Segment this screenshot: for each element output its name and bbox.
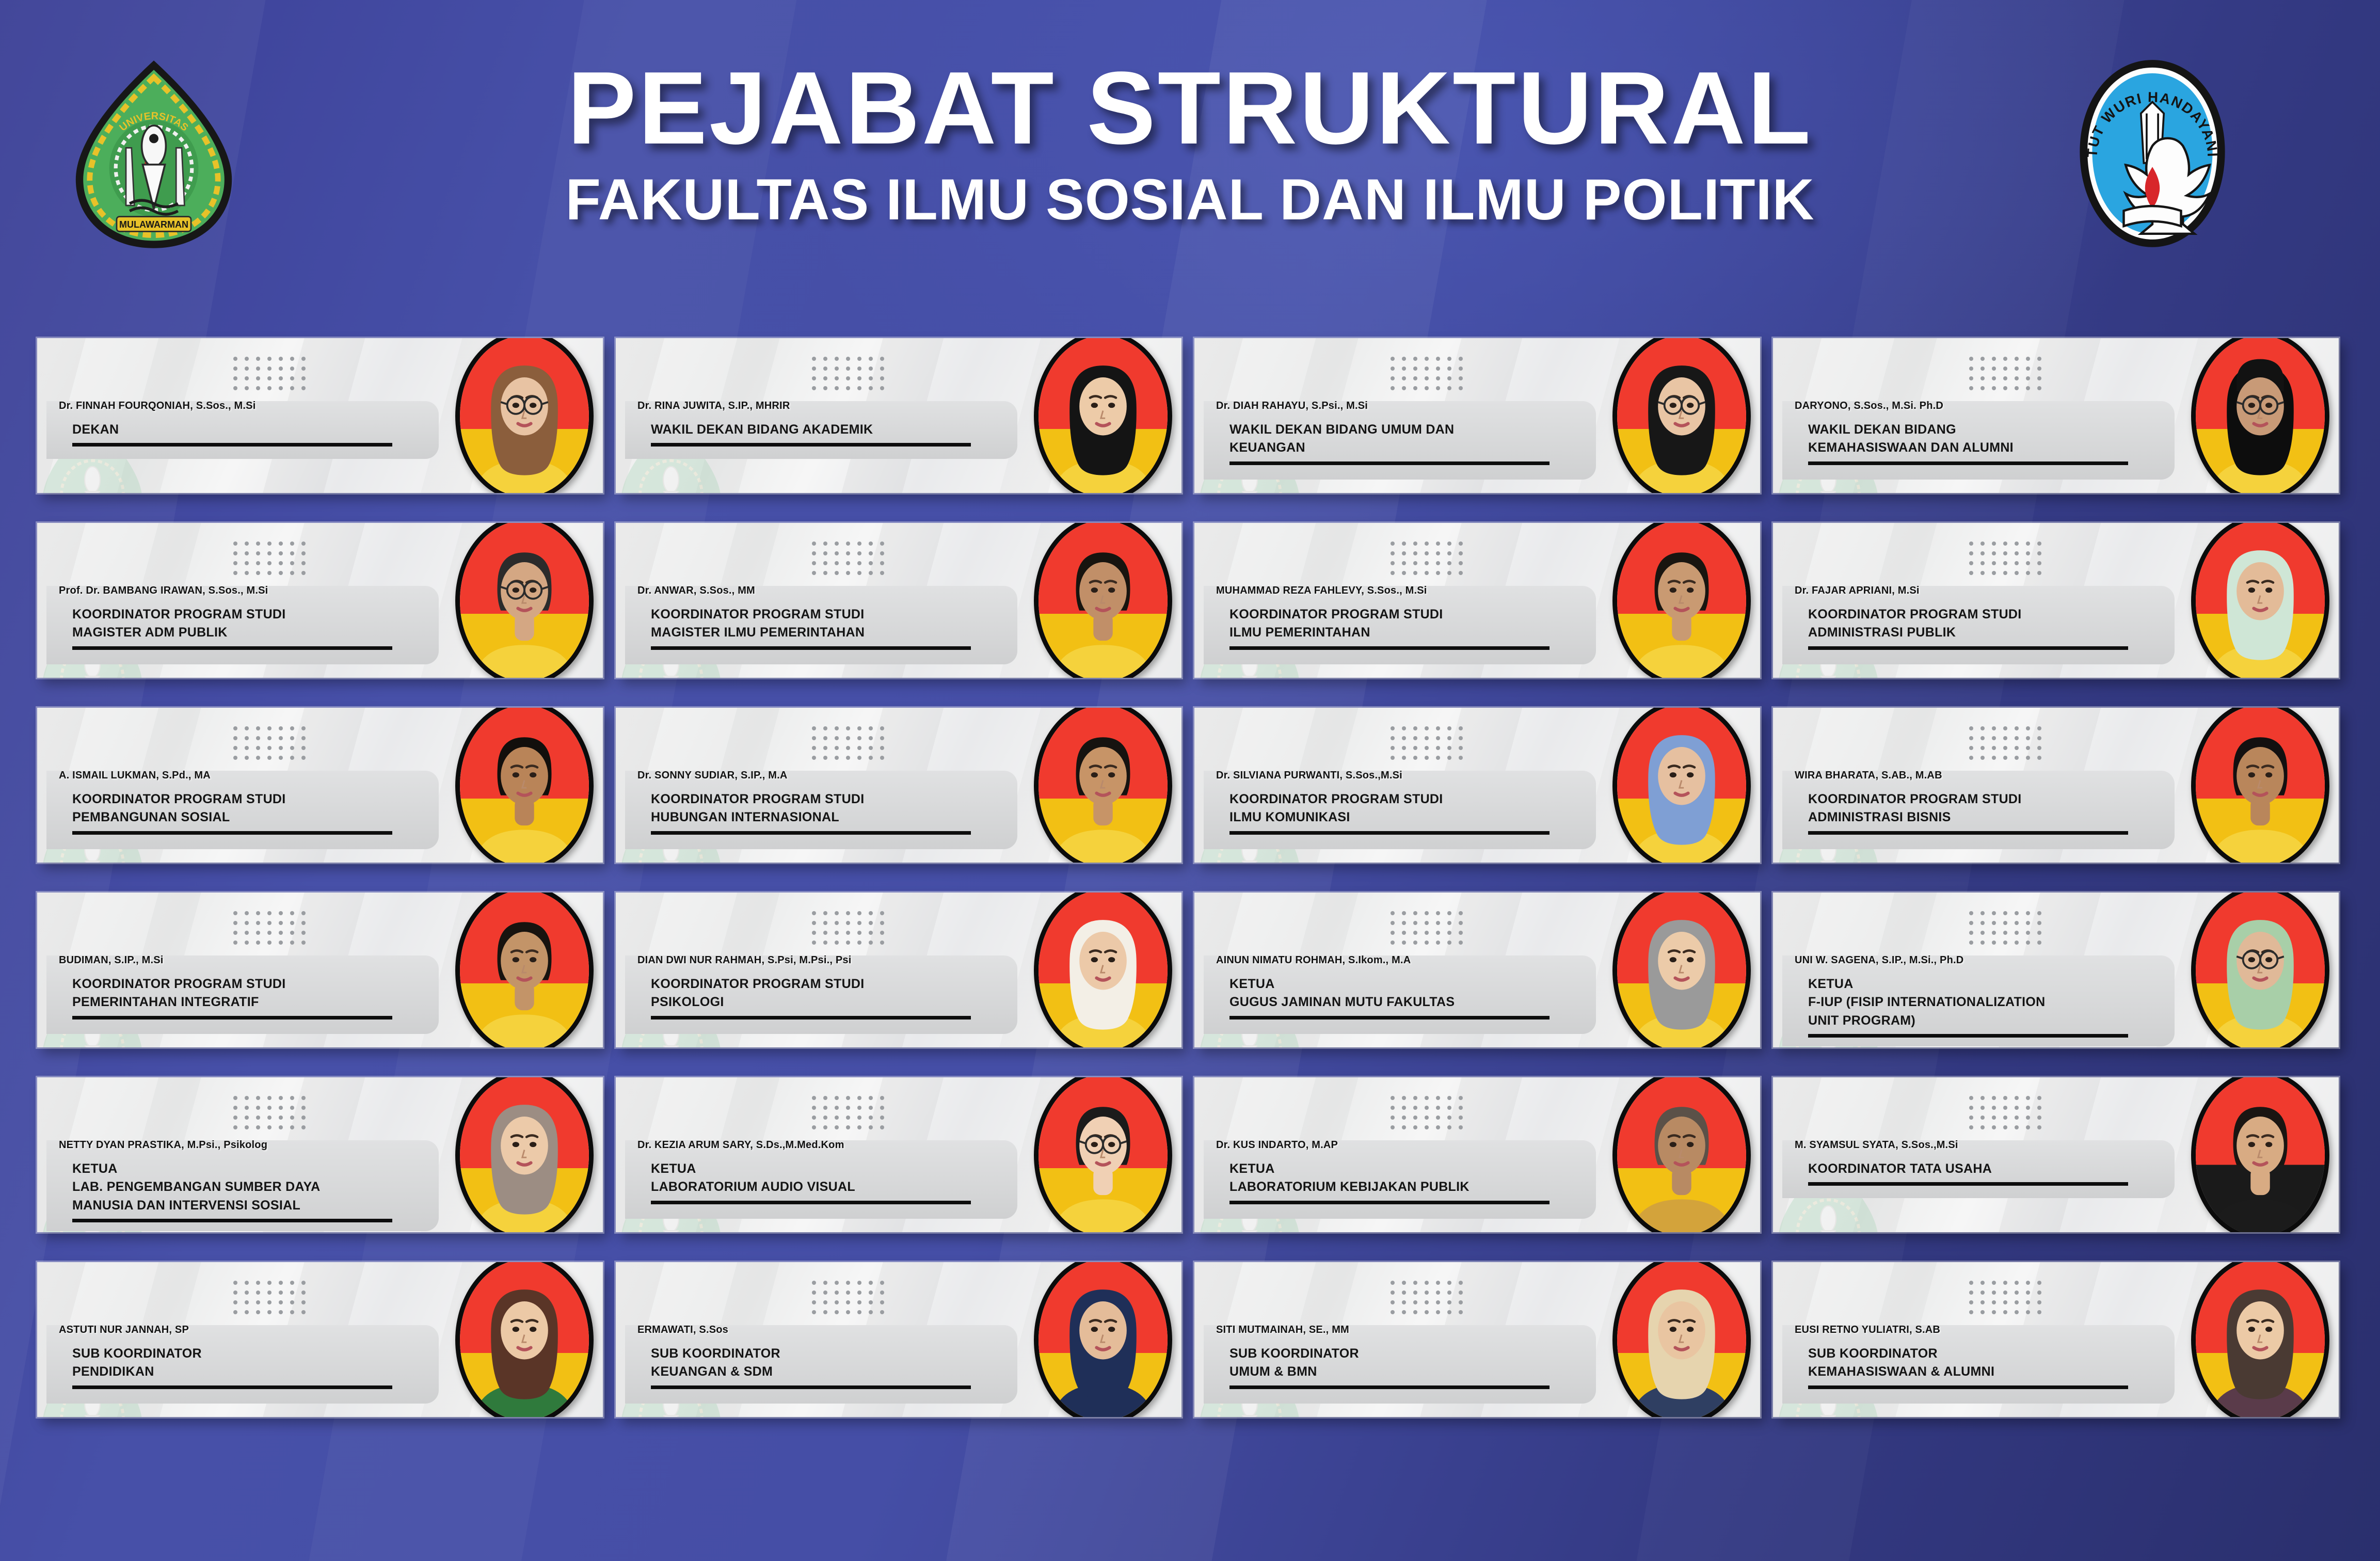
dot-pattern-decoration bbox=[812, 541, 891, 581]
official-text-block: NETTY DYAN PRASTIKA, M.Psi., PsikologKET… bbox=[59, 1139, 467, 1222]
official-card[interactable]: SITI MUTMAINAH, SE., MMSUB KOORDINATORUM… bbox=[1194, 1262, 1760, 1417]
official-role: KOORDINATOR PROGRAM STUDIILMU PEMERINTAH… bbox=[1216, 606, 1624, 642]
official-card[interactable]: Dr. ANWAR, S.Sos., MMKOORDINATOR PROGRAM… bbox=[616, 523, 1181, 678]
official-role-line: KOORDINATOR PROGRAM STUDI bbox=[1229, 606, 1624, 624]
official-role-line: MAGISTER ILMU PEMERINTAHAN bbox=[651, 624, 1045, 642]
underline-rule bbox=[651, 1016, 971, 1020]
title-block: PEJABAT STRUKTURAL FAKULTAS ILMU SOSIAL … bbox=[0, 57, 2380, 230]
person-photo bbox=[2191, 523, 2329, 678]
official-role-line: KEMAHASISWAAN & ALUMNI bbox=[1808, 1363, 2202, 1381]
dot-pattern-decoration bbox=[233, 911, 313, 950]
official-name: A. ISMAIL LUKMAN, S.Pd., MA bbox=[59, 770, 467, 782]
official-role: WAKIL DEKAN BIDANGKEMAHASISWAAN DAN ALUM… bbox=[1795, 421, 2202, 457]
official-name: Dr. KEZIA ARUM SARY, S.Ds.,M.Med.Kom bbox=[637, 1139, 1045, 1152]
official-role-line: WAKIL DEKAN BIDANG AKADEMIK bbox=[651, 421, 1045, 439]
underline-rule bbox=[1229, 1201, 1550, 1204]
dot-pattern-decoration bbox=[812, 1281, 891, 1320]
official-role-line: MAGISTER ADM PUBLIK bbox=[72, 624, 467, 642]
official-name: DIAN DWI NUR RAHMAH, S.Psi, M.Psi., Psi bbox=[637, 954, 1045, 967]
official-role: SUB KOORDINATORKEMAHASISWAAN & ALUMNI bbox=[1795, 1345, 2202, 1381]
tut-wuri-handayani-logo: TUT WURI HANDAYANI bbox=[2057, 54, 2248, 256]
official-card[interactable]: A. ISMAIL LUKMAN, S.Pd., MAKOORDINATOR P… bbox=[37, 708, 603, 863]
dot-pattern-decoration bbox=[1391, 911, 1470, 950]
official-text-block: MUHAMMAD REZA FAHLEVY, S.Sos., M.SiKOORD… bbox=[1216, 585, 1624, 650]
underline-rule bbox=[1808, 1034, 2128, 1038]
official-name: WIRA BHARATA, S.AB., M.AB bbox=[1795, 770, 2202, 782]
official-card[interactable]: EUSI RETNO YULIATRI, S.ABSUB KOORDINATOR… bbox=[1773, 1262, 2339, 1417]
dot-pattern-decoration bbox=[812, 726, 891, 766]
official-name: Dr. DIAH RAHAYU, S.Psi., M.Si bbox=[1216, 400, 1624, 412]
underline-rule bbox=[1229, 831, 1550, 835]
official-role-line: KOORDINATOR PROGRAM STUDI bbox=[72, 606, 467, 624]
dot-pattern-decoration bbox=[1969, 1281, 2049, 1320]
official-role-line: ILMU PEMERINTAHAN bbox=[1229, 624, 1624, 642]
official-card[interactable]: BUDIMAN, S.IP., M.SiKOORDINATOR PROGRAM … bbox=[37, 893, 603, 1047]
official-name: ASTUTI NUR JANNAH, SP bbox=[59, 1324, 467, 1336]
underline-rule bbox=[72, 1016, 392, 1020]
official-card[interactable]: Dr. DIAH RAHAYU, S.Psi., M.SiWAKIL DEKAN… bbox=[1194, 338, 1760, 493]
official-text-block: Prof. Dr. BAMBANG IRAWAN, S.Sos., M.SiKO… bbox=[59, 585, 467, 650]
official-role-line: PEMBANGUNAN SOSIAL bbox=[72, 808, 467, 827]
dot-pattern-decoration bbox=[1391, 357, 1470, 396]
person-photo bbox=[455, 708, 594, 863]
person-photo bbox=[2191, 893, 2329, 1047]
official-role-line: GUGUS JAMINAN MUTU FAKULTAS bbox=[1229, 993, 1624, 1012]
dot-pattern-decoration bbox=[1969, 911, 2049, 950]
official-role-line: KOORDINATOR PROGRAM STUDI bbox=[1808, 606, 2202, 624]
official-role-line: KETUA bbox=[651, 1160, 1045, 1178]
person-photo bbox=[2191, 1077, 2329, 1232]
official-role: WAKIL DEKAN BIDANG AKADEMIK bbox=[637, 421, 1045, 439]
official-text-block: DIAN DWI NUR RAHMAH, S.Psi, M.Psi., PsiK… bbox=[637, 954, 1045, 1020]
official-text-block: A. ISMAIL LUKMAN, S.Pd., MAKOORDINATOR P… bbox=[59, 770, 467, 835]
official-role-line: KETUA bbox=[1229, 975, 1624, 994]
dot-pattern-decoration bbox=[1969, 1096, 2049, 1135]
official-card[interactable]: M. SYAMSUL SYATA, S.Sos.,M.SiKOORDINATOR… bbox=[1773, 1077, 2339, 1232]
official-text-block: M. SYAMSUL SYATA, S.Sos.,M.SiKOORDINATOR… bbox=[1795, 1139, 2202, 1186]
official-role: WAKIL DEKAN BIDANG UMUM DANKEUANGAN bbox=[1216, 421, 1624, 457]
dot-pattern-decoration bbox=[233, 1281, 313, 1320]
dot-pattern-decoration bbox=[1969, 357, 2049, 396]
dot-pattern-decoration bbox=[233, 726, 313, 766]
official-role-line: KOORDINATOR PROGRAM STUDI bbox=[651, 975, 1045, 994]
official-name: ERMAWATI, S.Sos bbox=[637, 1324, 1045, 1336]
official-card[interactable]: MUHAMMAD REZA FAHLEVY, S.Sos., M.SiKOORD… bbox=[1194, 523, 1760, 678]
person-photo bbox=[1612, 1262, 1751, 1417]
official-name: NETTY DYAN PRASTIKA, M.Psi., Psikolog bbox=[59, 1139, 467, 1152]
official-role-line: SUB KOORDINATOR bbox=[651, 1345, 1045, 1363]
official-role-line: SUB KOORDINATOR bbox=[1229, 1345, 1624, 1363]
official-role-line: KOORDINATOR PROGRAM STUDI bbox=[72, 975, 467, 994]
person-photo bbox=[1612, 1077, 1751, 1232]
official-card[interactable]: AINUN NIMATU ROHMAH, S.Ikom., M.AKETUAGU… bbox=[1194, 893, 1760, 1047]
page-subtitle: FAKULTAS ILMU SOSIAL DAN ILMU POLITIK bbox=[0, 169, 2380, 230]
underline-rule bbox=[651, 831, 971, 835]
dot-pattern-decoration bbox=[233, 1096, 313, 1135]
official-role-line: KETUA bbox=[1808, 975, 2202, 994]
official-role-line: KEUANGAN bbox=[1229, 439, 1624, 457]
official-role-line: KOORDINATOR TATA USAHA bbox=[1808, 1160, 2202, 1178]
official-role-line: KOORDINATOR PROGRAM STUDI bbox=[1808, 790, 2202, 809]
person-photo bbox=[455, 893, 594, 1047]
official-role-line: KOORDINATOR PROGRAM STUDI bbox=[651, 790, 1045, 809]
official-role-line: MANUSIA DAN INTERVENSI SOSIAL bbox=[72, 1197, 467, 1215]
official-role-line: KOORDINATOR PROGRAM STUDI bbox=[72, 790, 467, 809]
official-text-block: Dr. DIAH RAHAYU, S.Psi., M.SiWAKIL DEKAN… bbox=[1216, 400, 1624, 465]
underline-rule bbox=[651, 1201, 971, 1204]
official-role: KETUAGUGUS JAMINAN MUTU FAKULTAS bbox=[1216, 975, 1624, 1012]
person-photo bbox=[2191, 338, 2329, 493]
official-text-block: UNI W. SAGENA, S.IP., M.Si., Ph.DKETUAF-… bbox=[1795, 954, 2202, 1038]
dot-pattern-decoration bbox=[812, 911, 891, 950]
official-role: KOORDINATOR PROGRAM STUDIMAGISTER ADM PU… bbox=[59, 606, 467, 642]
official-role-line: ILMU KOMUNIKASI bbox=[1229, 808, 1624, 827]
person-photo bbox=[1034, 338, 1172, 493]
person-photo bbox=[1034, 1077, 1172, 1232]
underline-rule bbox=[651, 1385, 971, 1389]
person-photo bbox=[2191, 1262, 2329, 1417]
official-card[interactable]: Dr. FAJAR APRIANI, M.SiKOORDINATOR PROGR… bbox=[1773, 523, 2339, 678]
official-name: Dr. KUS INDARTO, M.AP bbox=[1216, 1139, 1624, 1152]
official-name: Dr. ANWAR, S.Sos., MM bbox=[637, 585, 1045, 597]
official-name: MUHAMMAD REZA FAHLEVY, S.Sos., M.Si bbox=[1216, 585, 1624, 597]
person-photo bbox=[2191, 708, 2329, 863]
official-text-block: SITI MUTMAINAH, SE., MMSUB KOORDINATORUM… bbox=[1216, 1324, 1624, 1389]
person-photo bbox=[1034, 1262, 1172, 1417]
person-photo bbox=[1034, 523, 1172, 678]
official-role-line: LAB. PENGEMBANGAN SUMBER DAYA bbox=[72, 1178, 467, 1197]
person-photo bbox=[455, 338, 594, 493]
official-role: KOORDINATOR PROGRAM STUDIADMINISTRASI BI… bbox=[1795, 790, 2202, 827]
official-card[interactable]: WIRA BHARATA, S.AB., M.ABKOORDINATOR PRO… bbox=[1773, 708, 2339, 863]
official-card[interactable]: Dr. RINA JUWITA, S.IP., MHRIRWAKIL DEKAN… bbox=[616, 338, 1181, 493]
underline-rule bbox=[1808, 646, 2128, 650]
person-photo bbox=[455, 523, 594, 678]
page-header: MULAWARMAN UNIVERSITAS PEJABAT STRUKTURA… bbox=[0, 0, 2380, 310]
official-name: BUDIMAN, S.IP., M.Si bbox=[59, 954, 467, 967]
official-role-line: WAKIL DEKAN BIDANG bbox=[1808, 421, 2202, 439]
dot-pattern-decoration bbox=[1969, 541, 2049, 581]
official-name: Prof. Dr. BAMBANG IRAWAN, S.Sos., M.Si bbox=[59, 585, 467, 597]
underline-rule bbox=[651, 646, 971, 650]
official-card[interactable]: UNI W. SAGENA, S.IP., M.Si., Ph.DKETUAF-… bbox=[1773, 893, 2339, 1047]
official-role: DEKAN bbox=[59, 421, 467, 439]
official-role-line: ADMINISTRASI PUBLIK bbox=[1808, 624, 2202, 642]
official-role: KETUAF-IUP (FISIP INTERNATIONALIZATIONUN… bbox=[1795, 975, 2202, 1030]
official-card[interactable]: Dr. KUS INDARTO, M.APKETUALABORATORIUM K… bbox=[1194, 1077, 1760, 1232]
official-card[interactable]: ERMAWATI, S.SosSUB KOORDINATORKEUANGAN &… bbox=[616, 1262, 1181, 1417]
official-text-block: Dr. ANWAR, S.Sos., MMKOORDINATOR PROGRAM… bbox=[637, 585, 1045, 650]
official-text-block: ASTUTI NUR JANNAH, SPSUB KOORDINATORPEND… bbox=[59, 1324, 467, 1389]
underline-rule bbox=[1229, 461, 1550, 465]
official-role-line: HUBUNGAN INTERNASIONAL bbox=[651, 808, 1045, 827]
official-name: Dr. SONNY SUDIAR, S.IP., M.A bbox=[637, 770, 1045, 782]
official-role: KETUALABORATORIUM AUDIO VISUAL bbox=[637, 1160, 1045, 1197]
official-role: SUB KOORDINATORKEUANGAN & SDM bbox=[637, 1345, 1045, 1381]
official-role-line: UMUM & BMN bbox=[1229, 1363, 1624, 1381]
official-role-line: ADMINISTRASI BISNIS bbox=[1808, 808, 2202, 827]
official-role-line: KOORDINATOR PROGRAM STUDI bbox=[1229, 790, 1624, 809]
underline-rule bbox=[651, 443, 971, 447]
official-role: KOORDINATOR PROGRAM STUDIPEMBANGUNAN SOS… bbox=[59, 790, 467, 827]
person-photo bbox=[1612, 338, 1751, 493]
official-text-block: Dr. KEZIA ARUM SARY, S.Ds.,M.Med.KomKETU… bbox=[637, 1139, 1045, 1204]
official-card[interactable]: Dr. KEZIA ARUM SARY, S.Ds.,M.Med.KomKETU… bbox=[616, 1077, 1181, 1232]
official-role-line: KOORDINATOR PROGRAM STUDI bbox=[651, 606, 1045, 624]
underline-rule bbox=[1808, 1385, 2128, 1389]
official-role: SUB KOORDINATORPENDIDIKAN bbox=[59, 1345, 467, 1381]
official-role-line: LABORATORIUM AUDIO VISUAL bbox=[651, 1178, 1045, 1197]
dot-pattern-decoration bbox=[1391, 541, 1470, 581]
official-text-block: DARYONO, S.Sos., M.Si. Ph.DWAKIL DEKAN B… bbox=[1795, 400, 2202, 465]
official-name: Dr. RINA JUWITA, S.IP., MHRIR bbox=[637, 400, 1045, 412]
officials-grid: Dr. FINNAH FOURQONIAH, S.Sos., M.SiDEKAN… bbox=[37, 338, 2344, 1417]
person-photo bbox=[1034, 893, 1172, 1047]
official-role-line: SUB KOORDINATOR bbox=[72, 1345, 467, 1363]
official-card[interactable]: ASTUTI NUR JANNAH, SPSUB KOORDINATORPEND… bbox=[37, 1262, 603, 1417]
official-text-block: Dr. SONNY SUDIAR, S.IP., M.AKOORDINATOR … bbox=[637, 770, 1045, 835]
official-name: UNI W. SAGENA, S.IP., M.Si., Ph.D bbox=[1795, 954, 2202, 967]
person-photo bbox=[1612, 523, 1751, 678]
official-role-line: PENDIDIKAN bbox=[72, 1363, 467, 1381]
official-role: KETUALABORATORIUM KEBIJAKAN PUBLIK bbox=[1216, 1160, 1624, 1197]
official-role-line: UNIT PROGRAM) bbox=[1808, 1012, 2202, 1030]
official-role: KOORDINATOR PROGRAM STUDIPSIKOLOGI bbox=[637, 975, 1045, 1012]
person-photo bbox=[1034, 708, 1172, 863]
person-photo bbox=[455, 1262, 594, 1417]
official-card[interactable]: Prof. Dr. BAMBANG IRAWAN, S.Sos., M.SiKO… bbox=[37, 523, 603, 678]
underline-rule bbox=[72, 1219, 392, 1222]
official-role: KOORDINATOR PROGRAM STUDIILMU KOMUNIKASI bbox=[1216, 790, 1624, 827]
dot-pattern-decoration bbox=[1391, 726, 1470, 766]
official-name: M. SYAMSUL SYATA, S.Sos.,M.Si bbox=[1795, 1139, 2202, 1152]
official-text-block: AINUN NIMATU ROHMAH, S.Ikom., M.AKETUAGU… bbox=[1216, 954, 1624, 1020]
official-role-line: SUB KOORDINATOR bbox=[1808, 1345, 2202, 1363]
official-role-line: PSIKOLOGI bbox=[651, 993, 1045, 1012]
official-text-block: ERMAWATI, S.SosSUB KOORDINATORKEUANGAN &… bbox=[637, 1324, 1045, 1389]
underline-rule bbox=[1808, 831, 2128, 835]
official-role: KOORDINATOR TATA USAHA bbox=[1795, 1160, 2202, 1178]
official-name: Dr. FAJAR APRIANI, M.Si bbox=[1795, 585, 2202, 597]
official-role-line: KEMAHASISWAAN DAN ALUMNI bbox=[1808, 439, 2202, 457]
dot-pattern-decoration bbox=[1391, 1281, 1470, 1320]
official-name: SITI MUTMAINAH, SE., MM bbox=[1216, 1324, 1624, 1336]
underline-rule bbox=[1808, 1182, 2128, 1186]
underline-rule bbox=[72, 1385, 392, 1389]
person-photo bbox=[1612, 893, 1751, 1047]
official-text-block: Dr. RINA JUWITA, S.IP., MHRIRWAKIL DEKAN… bbox=[637, 400, 1045, 447]
underline-rule bbox=[72, 646, 392, 650]
official-text-block: Dr. FAJAR APRIANI, M.SiKOORDINATOR PROGR… bbox=[1795, 585, 2202, 650]
underline-rule bbox=[72, 831, 392, 835]
dot-pattern-decoration bbox=[812, 357, 891, 396]
official-text-block: EUSI RETNO YULIATRI, S.ABSUB KOORDINATOR… bbox=[1795, 1324, 2202, 1389]
official-name: Dr. SILVIANA PURWANTI, S.Sos.,M.Si bbox=[1216, 770, 1624, 782]
official-role-line: LABORATORIUM KEBIJAKAN PUBLIK bbox=[1229, 1178, 1624, 1197]
official-name: EUSI RETNO YULIATRI, S.AB bbox=[1795, 1324, 2202, 1336]
official-card[interactable]: Dr. SONNY SUDIAR, S.IP., M.AKOORDINATOR … bbox=[616, 708, 1181, 863]
person-photo bbox=[455, 1077, 594, 1232]
official-role: KOORDINATOR PROGRAM STUDIADMINISTRASI PU… bbox=[1795, 606, 2202, 642]
dot-pattern-decoration bbox=[812, 1096, 891, 1135]
official-name: AINUN NIMATU ROHMAH, S.Ikom., M.A bbox=[1216, 954, 1624, 967]
official-card[interactable]: Dr. FINNAH FOURQONIAH, S.Sos., M.SiDEKAN bbox=[37, 338, 603, 493]
official-text-block: Dr. SILVIANA PURWANTI, S.Sos.,M.SiKOORDI… bbox=[1216, 770, 1624, 835]
official-role-line: PEMERINTAHAN INTEGRATIF bbox=[72, 993, 467, 1012]
official-card[interactable]: NETTY DYAN PRASTIKA, M.Psi., PsikologKET… bbox=[37, 1077, 603, 1232]
official-text-block: WIRA BHARATA, S.AB., M.ABKOORDINATOR PRO… bbox=[1795, 770, 2202, 835]
official-role: KOORDINATOR PROGRAM STUDIMAGISTER ILMU P… bbox=[637, 606, 1045, 642]
dot-pattern-decoration bbox=[1969, 726, 2049, 766]
underline-rule bbox=[72, 443, 392, 447]
official-card[interactable]: Dr. SILVIANA PURWANTI, S.Sos.,M.SiKOORDI… bbox=[1194, 708, 1760, 863]
page-title: PEJABAT STRUKTURAL bbox=[0, 57, 2380, 160]
underline-rule bbox=[1229, 1385, 1550, 1389]
dot-pattern-decoration bbox=[1391, 1096, 1470, 1135]
official-role-line: DEKAN bbox=[72, 421, 467, 439]
official-name: Dr. FINNAH FOURQONIAH, S.Sos., M.Si bbox=[59, 400, 467, 412]
underline-rule bbox=[1808, 461, 2128, 465]
person-photo bbox=[1612, 708, 1751, 863]
dot-pattern-decoration bbox=[233, 357, 313, 396]
official-text-block: Dr. KUS INDARTO, M.APKETUALABORATORIUM K… bbox=[1216, 1139, 1624, 1204]
official-name: DARYONO, S.Sos., M.Si. Ph.D bbox=[1795, 400, 2202, 412]
official-role-line: KETUA bbox=[72, 1160, 467, 1178]
official-role-line: KETUA bbox=[1229, 1160, 1624, 1178]
official-role: KETUALAB. PENGEMBANGAN SUMBER DAYAMANUSI… bbox=[59, 1160, 467, 1215]
official-role-line: KEUANGAN & SDM bbox=[651, 1363, 1045, 1381]
underline-rule bbox=[1229, 646, 1550, 650]
official-role: SUB KOORDINATORUMUM & BMN bbox=[1216, 1345, 1624, 1381]
official-role: KOORDINATOR PROGRAM STUDIHUBUNGAN INTERN… bbox=[637, 790, 1045, 827]
official-card[interactable]: DARYONO, S.Sos., M.Si. Ph.DWAKIL DEKAN B… bbox=[1773, 338, 2339, 493]
official-role-line: WAKIL DEKAN BIDANG UMUM DAN bbox=[1229, 421, 1624, 439]
official-text-block: BUDIMAN, S.IP., M.SiKOORDINATOR PROGRAM … bbox=[59, 954, 467, 1020]
official-text-block: Dr. FINNAH FOURQONIAH, S.Sos., M.SiDEKAN bbox=[59, 400, 467, 447]
underline-rule bbox=[1229, 1016, 1550, 1020]
official-role: KOORDINATOR PROGRAM STUDIPEMERINTAHAN IN… bbox=[59, 975, 467, 1012]
dot-pattern-decoration bbox=[233, 541, 313, 581]
official-card[interactable]: DIAN DWI NUR RAHMAH, S.Psi, M.Psi., PsiK… bbox=[616, 893, 1181, 1047]
official-role-line: F-IUP (FISIP INTERNATIONALIZATION bbox=[1808, 993, 2202, 1012]
